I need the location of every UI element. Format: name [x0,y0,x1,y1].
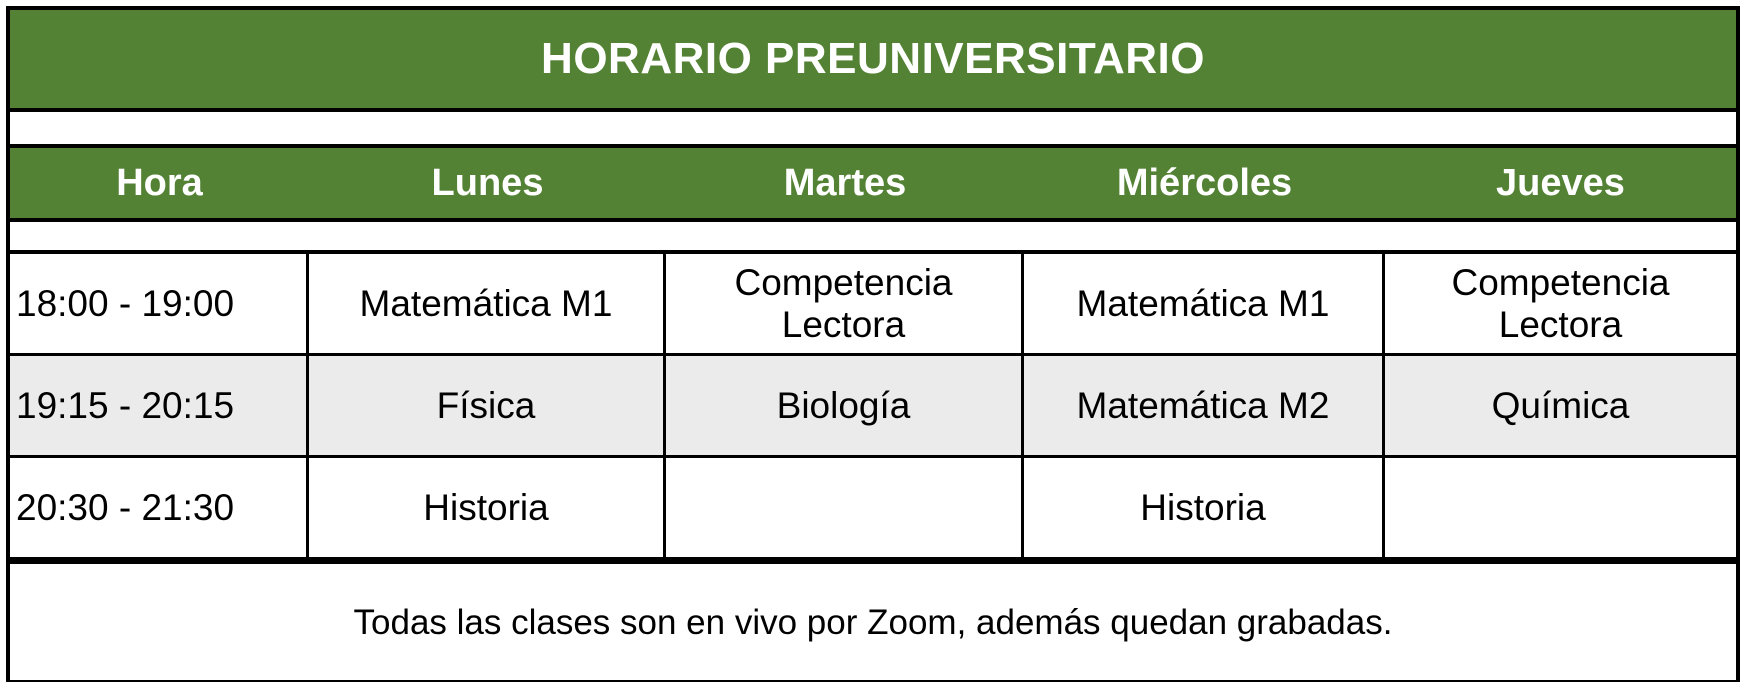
spacer-band-middle [6,222,1740,250]
cell-class: Competencia Lectora [666,254,1024,353]
schedule-page: HORARIO PREUNIVERSITARIO Hora Lunes Mart… [0,0,1746,688]
cell-class-empty [666,458,1024,557]
table-row: 20:30 - 21:30 Historia Historia [10,458,1736,560]
page-title: HORARIO PREUNIVERSITARIO [541,37,1205,81]
cell-line: Lectora [734,304,952,345]
column-header-lunes: Lunes [309,148,666,218]
cell-time: 18:00 - 19:00 [10,254,309,353]
cell-class-empty [1385,458,1736,557]
schedule-body: 18:00 - 19:00 Matemática M1 Competencia … [6,250,1740,682]
footer-note-row: Todas las clases son en vivo por Zoom, a… [10,560,1736,680]
cell-line: Competencia [1451,262,1669,303]
footer-note: Todas las clases son en vivo por Zoom, a… [354,605,1393,640]
cell-class: Matemática M1 [1024,254,1385,353]
cell-class: Competencia Lectora [1385,254,1736,353]
cell-class: Biología [666,356,1024,455]
cell-class: Física [309,356,666,455]
cell-class: Matemática M1 [309,254,666,353]
cell-line: Química [1492,385,1630,426]
cell-class: Química [1385,356,1736,455]
cell-line: Matemática M2 [1077,385,1330,426]
table-header-row: Hora Lunes Martes Miércoles Jueves [6,144,1740,222]
column-header-hora: Hora [10,148,309,218]
cell-line: Matemática M1 [360,283,613,324]
cell-line: Matemática M1 [1077,283,1330,324]
cell-line: Biología [777,385,911,426]
cell-class: Matemática M2 [1024,356,1385,455]
cell-line: Física [437,385,536,426]
cell-line: Lectora [1451,304,1669,345]
cell-line: Historia [423,487,548,528]
table-row: 19:15 - 20:15 Física Biología Matemática… [10,356,1736,458]
cell-time: 20:30 - 21:30 [10,458,309,557]
cell-class: Historia [309,458,666,557]
title-banner: HORARIO PREUNIVERSITARIO [6,6,1740,112]
column-header-martes: Martes [666,148,1024,218]
column-header-miercoles: Miércoles [1024,148,1385,218]
column-header-jueves: Jueves [1385,148,1736,218]
spacer-band-top [6,112,1740,144]
cell-time: 19:15 - 20:15 [10,356,309,455]
cell-line: Historia [1140,487,1265,528]
cell-line: Competencia [734,262,952,303]
cell-class: Historia [1024,458,1385,557]
table-row: 18:00 - 19:00 Matemática M1 Competencia … [10,254,1736,356]
